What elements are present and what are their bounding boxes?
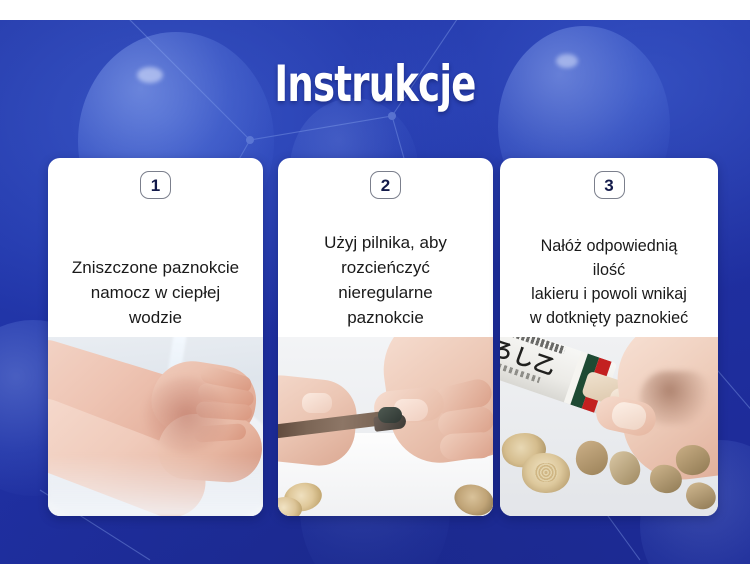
steps-container: 1 Zniszczone paznokcie namocz w ciepłej …: [0, 0, 750, 564]
step-card-2: 2 Użyj pilnika, aby rozcieńczyć nieregul…: [278, 158, 493, 516]
step-number-3: 3: [604, 177, 613, 194]
step-number-badge-2: 2: [370, 171, 401, 199]
step-card-1-head: 1 Zniszczone paznokcie namocz w ciepłej …: [48, 158, 263, 337]
step-card-3: 3 Nałóż odpowiednią ilość lakieru i powo…: [500, 158, 718, 516]
step-text-2: Użyj pilnika, aby rozcieńczyć nieregular…: [278, 230, 493, 330]
step-text-3: Nałóż odpowiednią ilość lakieru i powoli…: [500, 234, 718, 330]
step-card-1: 1 Zniszczone paznokcie namocz w ciepłej …: [48, 158, 263, 516]
step-number-2: 2: [381, 177, 390, 194]
step-number-1: 1: [151, 177, 160, 194]
instruction-banner: Instrukcje 1 Zniszczone paznokcie namocz…: [0, 0, 750, 564]
step-card-2-head: 2 Użyj pilnika, aby rozcieńczyć nieregul…: [278, 158, 493, 337]
step-number-badge-1: 1: [140, 171, 171, 199]
step-card-3-head: 3 Nałóż odpowiednią ilość lakieru i powo…: [500, 158, 718, 337]
step-text-1: Zniszczone paznokcie namocz w ciepłej wo…: [48, 255, 263, 330]
step-number-badge-3: 3: [594, 171, 625, 199]
step-photo-3: ろし乙: [500, 337, 718, 516]
step-photo-2: [278, 337, 493, 516]
step-photo-1: [48, 337, 263, 516]
